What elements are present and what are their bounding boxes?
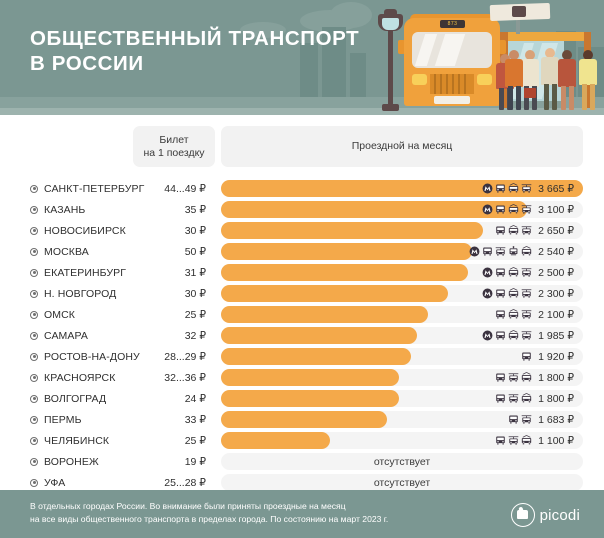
pass-bar-track: 3 100 ₽ [221, 201, 583, 218]
bus-icon [495, 225, 506, 236]
single-ticket-price: 32 ₽ [133, 325, 215, 346]
metro-icon [482, 288, 493, 299]
trolleybus-icon [521, 246, 532, 257]
bus-grille [430, 74, 474, 94]
bullet-icon [30, 311, 38, 319]
table-row: РОСТОВ-НА-ДОНУ28...29 ₽1 920 ₽ [0, 346, 604, 367]
header-banner: 873 [0, 0, 604, 115]
pass-meta: 2 500 ₽ [482, 264, 574, 281]
bus-icon [495, 204, 506, 215]
cloud-icon [330, 2, 372, 28]
pass-meta: 1 920 ₽ [521, 348, 574, 365]
single-ticket-price: 33 ₽ [133, 409, 215, 430]
pass-bar-track: 2 650 ₽ [221, 222, 583, 239]
trolleybus-icon [521, 435, 532, 446]
picodi-mark-icon [511, 503, 535, 527]
tram-icon [521, 204, 532, 215]
city-name-cell: ЧЕЛЯБИНСК [30, 430, 109, 451]
pass-meta: 2 300 ₽ [482, 285, 574, 302]
picodi-logo: picodi [511, 503, 580, 527]
pass-bar-track: 3 665 ₽ [221, 180, 583, 197]
bus-icon [495, 309, 506, 320]
bus-icon [495, 393, 506, 404]
pass-bar-fill [221, 390, 399, 407]
footer-note: В отдельных городах России. Во внимание … [30, 500, 470, 525]
tram-icon [521, 183, 532, 194]
metro-icon [482, 204, 493, 215]
trolleybus-icon [508, 204, 519, 215]
city-name: ЕКАТЕРИНБУРГ [44, 267, 126, 279]
bullet-icon [30, 479, 38, 487]
bus-icon [495, 330, 506, 341]
bullet-icon [30, 227, 38, 235]
pass-absent-label: отсутствует [221, 474, 583, 491]
bullet-icon [30, 185, 38, 193]
pass-bar-track: 2 300 ₽ [221, 285, 583, 302]
tram-icon [521, 414, 532, 425]
city-name: Н. НОВГОРОД [44, 288, 116, 300]
monthly-pass-price: 1 800 ₽ [538, 372, 574, 384]
pass-bar-fill [221, 306, 428, 323]
trolleybus-icon [521, 393, 532, 404]
city-name-cell: ВОЛГОГРАД [30, 388, 106, 409]
city-rows-list: САНКТ-ПЕТЕРБУРГ44...49 ₽3 665 ₽КАЗАНЬ35 … [0, 178, 604, 493]
pass-bar-track: 1 683 ₽ [221, 411, 583, 428]
city-name: ВОЛГОГРАД [44, 393, 106, 405]
bullet-icon [30, 458, 38, 466]
single-ticket-price: 25 ₽ [133, 304, 215, 325]
page-title: ОБЩЕСТВЕННЫЙ ТРАНСПОРТ В РОССИИ [30, 26, 359, 76]
monthly-pass-price: 1 100 ₽ [538, 435, 574, 447]
city-name: ЧЕЛЯБИНСК [44, 435, 109, 447]
pass-bar-fill [221, 432, 330, 449]
picodi-logo-text: picodi [540, 507, 580, 524]
trolleybus-icon [508, 225, 519, 236]
bus-icon [495, 267, 506, 278]
city-name-cell: ЕКАТЕРИНБУРГ [30, 262, 126, 283]
pass-bar-fill [221, 369, 399, 386]
bullet-icon [30, 269, 38, 277]
metro-icon [469, 246, 480, 257]
table-row: КРАСНОЯРСК32...36 ₽1 800 ₽ [0, 367, 604, 388]
bullet-icon [30, 416, 38, 424]
monthly-pass-price: 1 683 ₽ [538, 414, 574, 426]
single-ticket-price: 35 ₽ [133, 199, 215, 220]
city-name-cell: ВОРОНЕЖ [30, 451, 99, 472]
single-ticket-price: 30 ₽ [133, 283, 215, 304]
pass-meta: 1 800 ₽ [495, 390, 574, 407]
column-header-single-ticket: Билет на 1 поездку [133, 126, 215, 167]
table-row: МОСКВА50 ₽2 540 ₽ [0, 241, 604, 262]
single-ticket-price: 32...36 ₽ [133, 367, 215, 388]
city-name-cell: ПЕРМЬ [30, 409, 82, 430]
monthly-pass-price: 1 920 ₽ [538, 351, 574, 363]
city-name: КРАСНОЯРСК [44, 372, 115, 384]
lamppost-glass-icon [382, 18, 399, 30]
bullet-icon [30, 353, 38, 361]
trolleybus-icon [521, 372, 532, 383]
tram-icon [508, 435, 519, 446]
trolleybus-icon [508, 309, 519, 320]
city-name-cell: РОСТОВ-НА-ДОНУ [30, 346, 140, 367]
tram-icon [521, 309, 532, 320]
bus-route-number: 873 [440, 20, 465, 28]
tram-icon [508, 393, 519, 404]
pass-bar-track: 1 100 ₽ [221, 432, 583, 449]
single-ticket-price: 24 ₽ [133, 388, 215, 409]
city-name-cell: САМАРА [30, 325, 88, 346]
lamppost-base-icon [382, 104, 399, 111]
pass-bar-track: 1 800 ₽ [221, 369, 583, 386]
city-name: КАЗАНЬ [44, 204, 85, 216]
bullet-icon [30, 248, 38, 256]
tram-icon [495, 246, 506, 257]
pass-bar-fill [221, 243, 472, 260]
single-ticket-price: 44...49 ₽ [133, 178, 215, 199]
pass-bar-track: 2 540 ₽ [221, 243, 583, 260]
pass-bar-track: 1 985 ₽ [221, 327, 583, 344]
lamppost-pole-icon [388, 22, 393, 110]
bullet-icon [30, 395, 38, 403]
table-row: ЕКАТЕРИНБУРГ31 ₽2 500 ₽ [0, 262, 604, 283]
city-name: ВОРОНЕЖ [44, 456, 99, 468]
table-row: ОМСК25 ₽2 100 ₽ [0, 304, 604, 325]
single-ticket-price: 19 ₽ [133, 451, 215, 472]
table-row: САМАРА32 ₽1 985 ₽ [0, 325, 604, 346]
tram-icon [521, 267, 532, 278]
pass-meta: 1 683 ₽ [508, 411, 574, 428]
single-ticket-price: 25 ₽ [133, 430, 215, 451]
monthly-pass-price: 2 100 ₽ [538, 309, 574, 321]
bullet-icon [30, 290, 38, 298]
pass-bar-fill [221, 285, 448, 302]
bus-license-plate [434, 96, 470, 104]
column-header-monthly-pass: Проездной на месяц [221, 126, 583, 167]
tram-icon [508, 372, 519, 383]
single-ticket-price: 30 ₽ [133, 220, 215, 241]
bus-headlight-left [412, 74, 427, 85]
bus-route-sign: 873 [440, 20, 465, 28]
bullet-icon [30, 437, 38, 445]
table-row: ЧЕЛЯБИНСК25 ₽1 100 ₽ [0, 430, 604, 451]
city-name-cell: ОМСК [30, 304, 75, 325]
city-name: ОМСК [44, 309, 75, 321]
pass-meta: 3 100 ₽ [482, 201, 574, 218]
pass-bar-fill [221, 264, 468, 281]
monthly-pass-price: 2 650 ₽ [538, 225, 574, 237]
city-name: САНКТ-ПЕТЕРБУРГ [44, 183, 144, 195]
bus-icon [495, 435, 506, 446]
pass-bar-track: 1 920 ₽ [221, 348, 583, 365]
tram-icon [521, 330, 532, 341]
bus-icon [495, 183, 506, 194]
table-row: НОВОСИБИРСК30 ₽2 650 ₽ [0, 220, 604, 241]
table-row: ПЕРМЬ33 ₽1 683 ₽ [0, 409, 604, 430]
city-name: ПЕРМЬ [44, 414, 82, 426]
table-row: ВОРОНЕЖ19 ₽отсутствует [0, 451, 604, 472]
pass-meta: 3 665 ₽ [482, 180, 574, 197]
bus-icon [482, 246, 493, 257]
pass-bar-track: 2 100 ₽ [221, 306, 583, 323]
trolleybus-icon [508, 183, 519, 194]
person-figure [557, 50, 577, 110]
pass-meta: 1 985 ₽ [482, 327, 574, 344]
single-ticket-price: 31 ₽ [133, 262, 215, 283]
city-name-cell: КРАСНОЯРСК [30, 367, 115, 388]
bus-illustration: 873 [404, 14, 500, 110]
pass-bar-fill [221, 348, 411, 365]
bus-icon [508, 414, 519, 425]
metro-icon [482, 183, 493, 194]
pass-bar-track: отсутствует [221, 453, 583, 470]
monthly-pass-price: 1 800 ₽ [538, 393, 574, 405]
monthly-pass-price: 3 100 ₽ [538, 204, 574, 216]
city-name: НОВОСИБИРСК [44, 225, 126, 237]
pass-bar-fill [221, 327, 417, 344]
bullet-icon [30, 374, 38, 382]
metro-icon [482, 267, 493, 278]
single-ticket-price: 50 ₽ [133, 241, 215, 262]
shelter-roof [500, 32, 590, 41]
pass-meta: 1 100 ₽ [495, 432, 574, 449]
trolleybus-icon [508, 330, 519, 341]
pass-bar-track: 1 800 ₽ [221, 390, 583, 407]
pass-meta: 2 650 ₽ [495, 222, 574, 239]
table-row: Н. НОВГОРОД30 ₽2 300 ₽ [0, 283, 604, 304]
pass-meta: 2 100 ₽ [495, 306, 574, 323]
city-name-cell: КАЗАНЬ [30, 199, 85, 220]
pass-bar-fill [221, 222, 483, 239]
single-ticket-price: 28...29 ₽ [133, 346, 215, 367]
pass-bar-track: 2 500 ₽ [221, 264, 583, 281]
footer-bar: В отдельных городах России. Во внимание … [0, 490, 604, 538]
person-figure [578, 50, 598, 110]
bus-icon [495, 288, 506, 299]
infographic-root: 873 [0, 0, 604, 538]
tram-icon [521, 225, 532, 236]
pass-meta: 1 800 ₽ [495, 369, 574, 386]
table-row: ВОЛГОГРАД24 ₽1 800 ₽ [0, 388, 604, 409]
bus-headlight-right [477, 74, 492, 85]
bus-icon [521, 351, 532, 362]
monthly-pass-price: 2 300 ₽ [538, 288, 574, 300]
pass-meta: 2 540 ₽ [469, 243, 574, 260]
bullet-icon [30, 332, 38, 340]
bullet-icon [30, 206, 38, 214]
table-row: САНКТ-ПЕТЕРБУРГ44...49 ₽3 665 ₽ [0, 178, 604, 199]
monorail-icon [508, 246, 519, 257]
city-name: САМАРА [44, 330, 88, 342]
monthly-pass-price: 3 665 ₽ [538, 183, 574, 195]
person-figure [504, 50, 524, 110]
monthly-pass-price: 2 500 ₽ [538, 267, 574, 279]
bus-stop-sign-icon [512, 6, 526, 17]
tram-icon [521, 288, 532, 299]
city-name-cell: САНКТ-ПЕТЕРБУРГ [30, 178, 144, 199]
trolleybus-icon [508, 267, 519, 278]
monthly-pass-price: 2 540 ₽ [538, 246, 574, 258]
city-name: УФА [44, 477, 65, 489]
pass-bar-track: отсутствует [221, 474, 583, 491]
city-name-cell: Н. НОВГОРОД [30, 283, 116, 304]
stop-sign-pole [516, 18, 520, 34]
table-row: КАЗАНЬ35 ₽3 100 ₽ [0, 199, 604, 220]
metro-icon [482, 330, 493, 341]
pass-bar-fill [221, 411, 387, 428]
trolleybus-icon [508, 288, 519, 299]
city-name: РОСТОВ-НА-ДОНУ [44, 351, 140, 363]
bus-icon [495, 372, 506, 383]
city-name-cell: МОСКВА [30, 241, 89, 262]
city-name: МОСКВА [44, 246, 89, 258]
monthly-pass-price: 1 985 ₽ [538, 330, 574, 342]
pass-absent-label: отсутствует [221, 453, 583, 470]
city-name-cell: НОВОСИБИРСК [30, 220, 126, 241]
